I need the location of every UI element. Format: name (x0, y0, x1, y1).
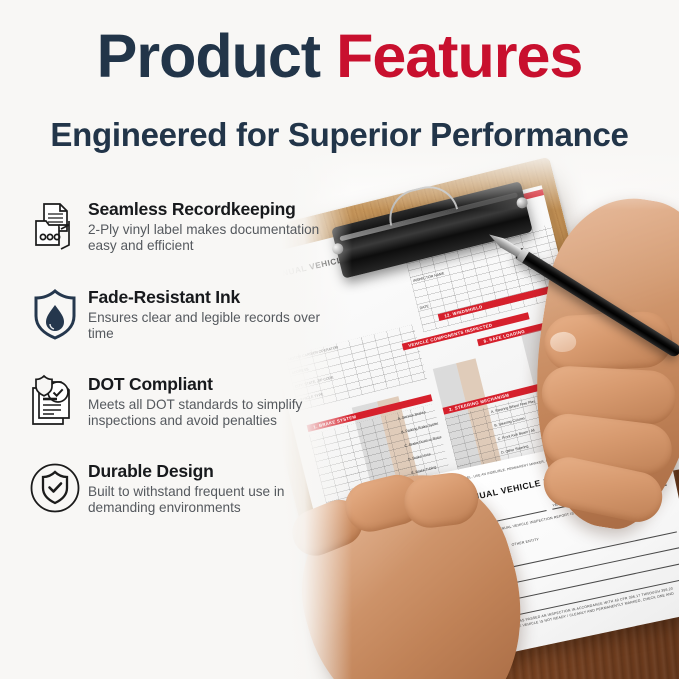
circle-shield-check-icon (22, 458, 88, 518)
infographic-canvas: ANNUAL VEHICLE INSPECTION REPORT VEHICLE… (0, 0, 679, 679)
feature-body: Built to withstand frequent use in deman… (88, 484, 342, 517)
feature-body: Ensures clear and legible records over t… (88, 310, 342, 343)
feature-body: Meets all DOT standards to simplify insp… (88, 397, 342, 430)
page-title: Product Features (0, 26, 679, 87)
document-check-shield-icon (22, 371, 88, 431)
document-filebox-icon (22, 196, 88, 256)
page-title-part-2: Features (336, 22, 582, 90)
page-title-part-1: Product (97, 22, 320, 90)
feature-item-recordkeeping: Seamless Recordkeeping 2-Ply vinyl label… (22, 196, 342, 256)
feature-text-recordkeeping: Seamless Recordkeeping 2-Ply vinyl label… (88, 196, 342, 255)
feature-text-durable-design: Durable Design Built to withstand freque… (88, 458, 342, 517)
feature-heading: DOT Compliant (88, 374, 342, 395)
feature-body: 2-Ply vinyl label makes documentation ea… (88, 222, 342, 255)
feature-item-durable-design: Durable Design Built to withstand freque… (22, 458, 342, 518)
feature-heading: Durable Design (88, 461, 342, 482)
shield-droplet-icon (22, 284, 88, 344)
feature-text-dot-compliant: DOT Compliant Meets all DOT standards to… (88, 371, 342, 430)
feature-text-fade-resistant: Fade-Resistant Ink Ensures clear and leg… (88, 284, 342, 343)
feature-item-dot-compliant: DOT Compliant Meets all DOT standards to… (22, 371, 342, 431)
left-hand-thumb (401, 470, 481, 531)
label-checkbox-other-entity-text: OTHER ENTITY (511, 537, 539, 547)
page-subtitle: Engineered for Superior Performance (0, 116, 679, 154)
right-hand-index-nail (550, 331, 577, 352)
feature-item-fade-resistant: Fade-Resistant Ink Ensures clear and leg… (22, 284, 342, 344)
feature-heading: Seamless Recordkeeping (88, 199, 342, 220)
feature-list: Seamless Recordkeeping 2-Ply vinyl label… (22, 196, 342, 545)
feature-heading: Fade-Resistant Ink (88, 287, 342, 308)
